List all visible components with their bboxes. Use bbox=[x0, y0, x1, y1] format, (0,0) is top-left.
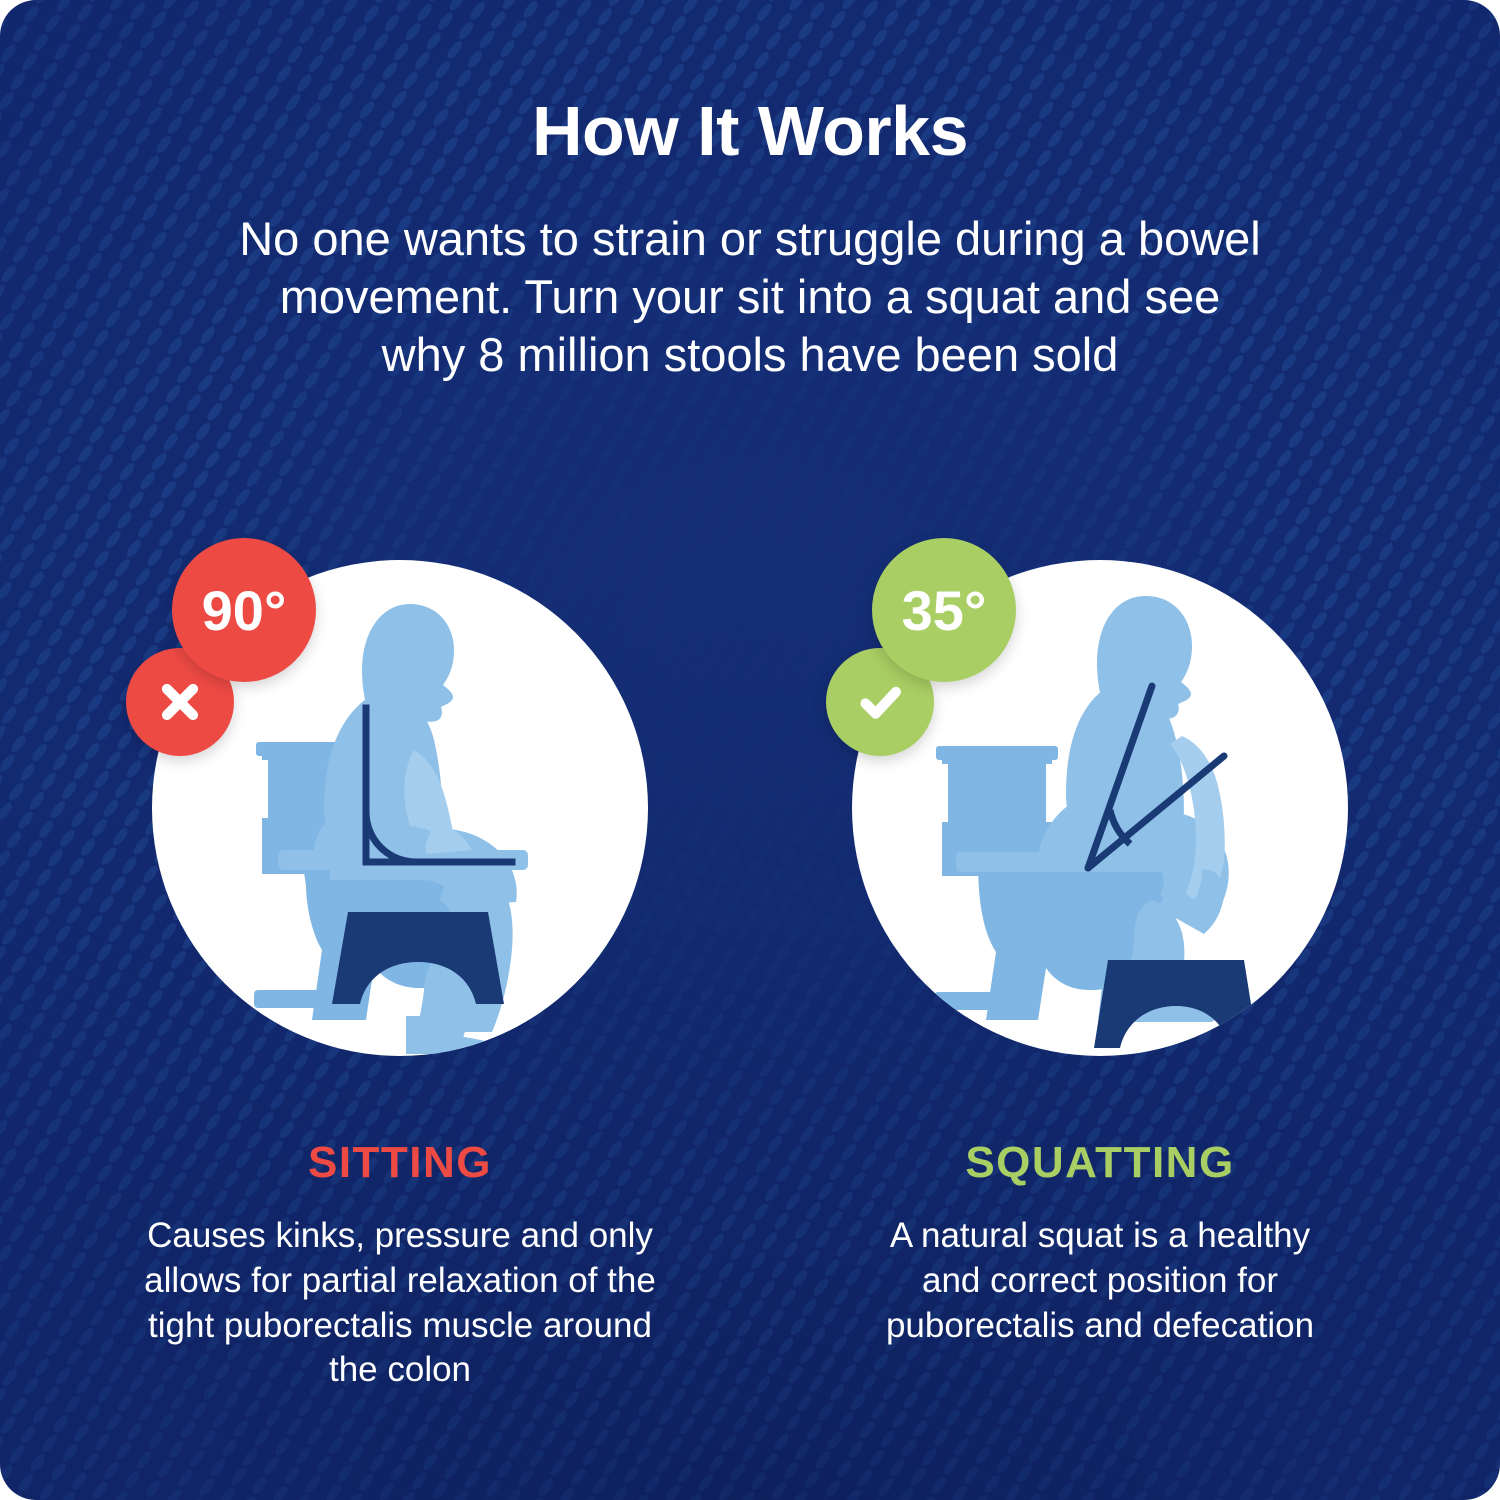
sitting-caption-body: Causes kinks, pressure and only allows f… bbox=[130, 1214, 670, 1393]
squatting-angle-label: 35° bbox=[902, 578, 987, 643]
sitting-angle-label: 90° bbox=[202, 578, 287, 643]
comparison-panels: 90° SITTING Causes kinks, pressure and o… bbox=[0, 560, 1500, 1393]
sitting-illustration-wrap: 90° bbox=[152, 560, 648, 1080]
page-subtitle: No one wants to strain or struggle durin… bbox=[143, 210, 1358, 383]
squatting-caption-body: A natural squat is a healthy and correct… bbox=[865, 1214, 1335, 1348]
panel-sitting: 90° SITTING Causes kinks, pressure and o… bbox=[120, 560, 680, 1393]
subtitle-line-3: why 8 million stools have been sold bbox=[143, 326, 1358, 384]
subtitle-line-2: movement. Turn your sit into a squat and… bbox=[143, 268, 1358, 326]
sitting-caption: SITTING Causes kinks, pressure and only … bbox=[130, 1138, 670, 1393]
squatting-caption: SQUATTING A natural squat is a healthy a… bbox=[865, 1138, 1335, 1348]
subtitle-line-1: No one wants to strain or struggle durin… bbox=[143, 210, 1358, 268]
squatting-angle-badge: 35° bbox=[872, 538, 1016, 682]
panel-squatting: 35° SQUATTING A natural squat is a healt… bbox=[820, 560, 1380, 1393]
infographic-poster: How It Works No one wants to strain or s… bbox=[0, 0, 1500, 1500]
header: How It Works No one wants to strain or s… bbox=[0, 96, 1500, 383]
sitting-angle-badge: 90° bbox=[172, 538, 316, 682]
squatting-illustration-wrap: 35° bbox=[852, 560, 1348, 1080]
page-title: How It Works bbox=[0, 96, 1500, 166]
squatting-caption-heading: SQUATTING bbox=[865, 1138, 1335, 1188]
sitting-caption-heading: SITTING bbox=[130, 1138, 670, 1188]
